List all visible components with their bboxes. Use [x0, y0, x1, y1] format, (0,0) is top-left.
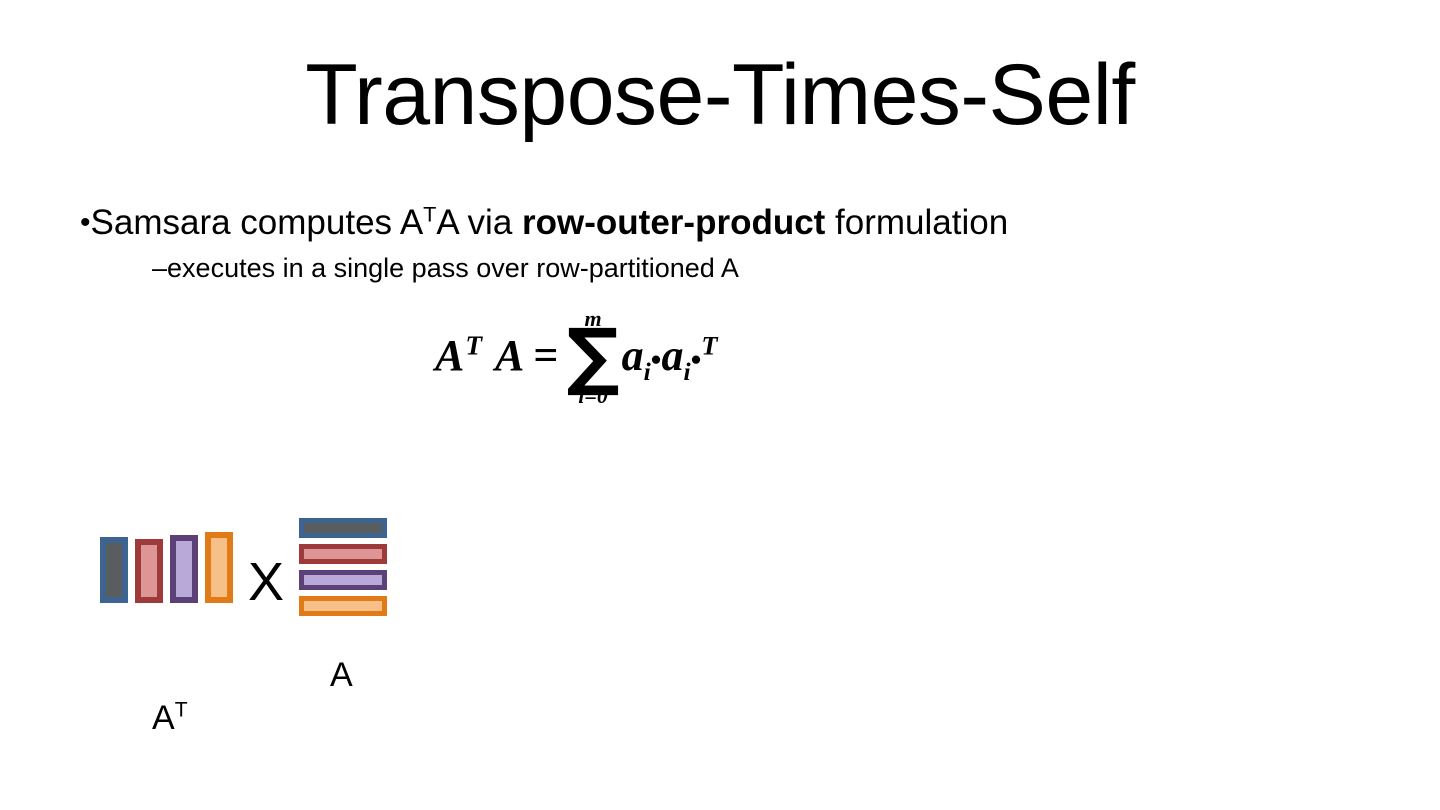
equation-term-2: ai•T: [661, 330, 717, 381]
label-at-base: A: [152, 699, 175, 737]
column-2: [135, 539, 163, 603]
bullet-2-text: executes in a single pass over row-parti…: [167, 253, 739, 283]
body-text-block: •Samsara computes ATA via row-outer-prod…: [80, 200, 1340, 286]
row-3: [299, 570, 387, 590]
bullet-level-1: •Samsara computes ATA via row-outer-prod…: [80, 200, 1340, 246]
bullet-1-superscript-t: T: [423, 201, 436, 226]
row-2: [299, 544, 387, 564]
term-2-subscript-i: i: [683, 357, 690, 386]
summation-lower-limit: i=0: [578, 385, 608, 407]
equation-equals-sign: =: [533, 330, 558, 381]
equation-lhs: AT A: [435, 330, 525, 381]
column-1: [100, 537, 128, 603]
label-matrix-a-transpose: AT: [152, 698, 188, 738]
term-2-row-dot-icon: •: [691, 343, 702, 377]
page-title: Transpose-Times-Self: [0, 52, 1440, 138]
row-4: [299, 596, 387, 616]
term-2-superscript-t: T: [701, 330, 717, 360]
bullet-level-2: –executes in a single pass over row-part…: [152, 250, 1340, 286]
equation-lhs-a2: A: [495, 331, 525, 380]
column-3: [170, 535, 198, 603]
term-1-row-dot-icon: •: [651, 343, 662, 377]
equation-transpose-times-self: AT A = m ∑ i=0 ai• ai•T: [435, 306, 717, 405]
equation-lhs-superscript-t: T: [465, 330, 483, 360]
row-1: [299, 518, 387, 538]
equation-term-1: ai•: [622, 330, 662, 381]
bullet-2-dash-icon: –: [152, 253, 167, 283]
term-2-base: a: [661, 331, 683, 380]
term-1-base: a: [622, 331, 644, 380]
label-matrix-a: A: [330, 655, 353, 695]
multiplication-operator: X: [248, 555, 284, 609]
equation-lhs-a: A: [435, 331, 465, 380]
bullet-1-part-2: A via: [436, 203, 522, 242]
label-at-superscript-t: T: [175, 699, 188, 722]
bullet-1-emphasis: row-outer-product: [522, 203, 825, 242]
bullet-1-part-3: formulation: [825, 203, 1008, 242]
bullet-dot-icon: •: [80, 206, 91, 239]
bullet-1-part-1: Samsara computes A: [91, 203, 424, 242]
column-4: [205, 532, 233, 603]
summation-operator: m ∑ i=0: [566, 308, 619, 407]
term-1-subscript-i: i: [644, 357, 651, 386]
sigma-icon: ∑: [566, 328, 619, 386]
